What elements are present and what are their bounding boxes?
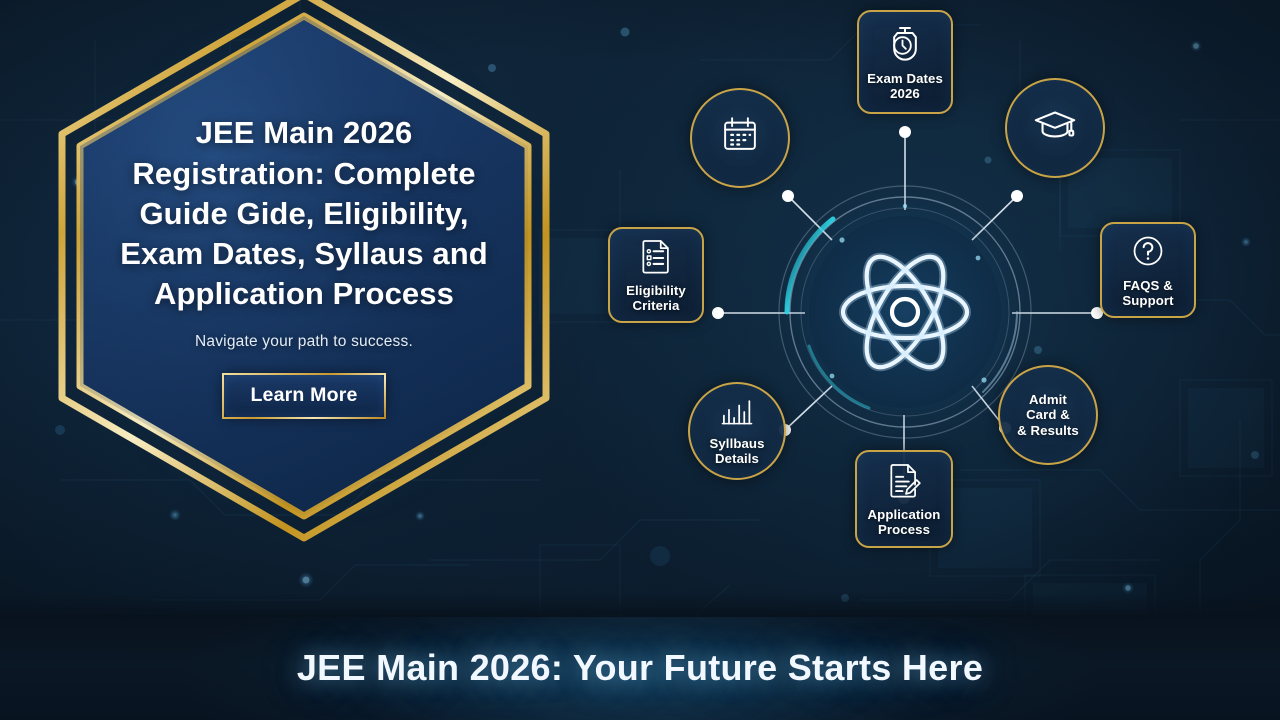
- graduation-cap-icon: [1032, 101, 1078, 152]
- poster-canvas: JEE Main 2026 Registration: Complete Gui…: [0, 0, 1280, 720]
- bottom-banner: JEE Main 2026: Your Future Starts Here: [0, 615, 1280, 720]
- node-faqs-support[interactable]: FAQS & Support: [1100, 222, 1196, 318]
- banner-fade: [0, 593, 1280, 617]
- banner-headline: JEE Main 2026: Your Future Starts Here: [297, 647, 983, 689]
- question-circle-icon: [1129, 232, 1167, 275]
- doc-pen-icon: [885, 461, 923, 504]
- calendar-icon: [719, 113, 761, 160]
- node-eligibility-criteria[interactable]: Eligibility Criteria: [608, 227, 704, 323]
- bar-chart-icon: [719, 396, 755, 433]
- node-label: Application Process: [868, 507, 941, 538]
- node-calendar[interactable]: [690, 88, 790, 188]
- node-label: FAQS & Support: [1122, 278, 1173, 309]
- node-exam-dates[interactable]: Exam Dates 2026: [857, 10, 953, 114]
- node-syllabus-details[interactable]: Syllbaus Details: [688, 382, 786, 480]
- checklist-doc-icon: [637, 237, 675, 280]
- node-graduation[interactable]: [1005, 78, 1105, 178]
- node-admit-card-results[interactable]: Admit Card & & Results: [998, 365, 1098, 465]
- hero-subtitle: Navigate your path to success.: [195, 333, 413, 351]
- node-label: Admit Card & & Results: [1017, 392, 1079, 438]
- node-application-process[interactable]: Application Process: [855, 450, 953, 548]
- hero-hexagon-card: JEE Main 2026 Registration: Complete Gui…: [46, 0, 562, 546]
- stopwatch-icon: [885, 23, 925, 68]
- concept-map: Exam Dates 2026: [580, 0, 1280, 620]
- learn-more-button[interactable]: Learn More: [222, 373, 385, 419]
- page-title: JEE Main 2026 Registration: Complete Gui…: [104, 113, 504, 314]
- node-label: Syllbaus Details: [709, 436, 764, 467]
- node-label: Exam Dates 2026: [867, 71, 943, 102]
- node-label: Eligibility Criteria: [626, 283, 686, 314]
